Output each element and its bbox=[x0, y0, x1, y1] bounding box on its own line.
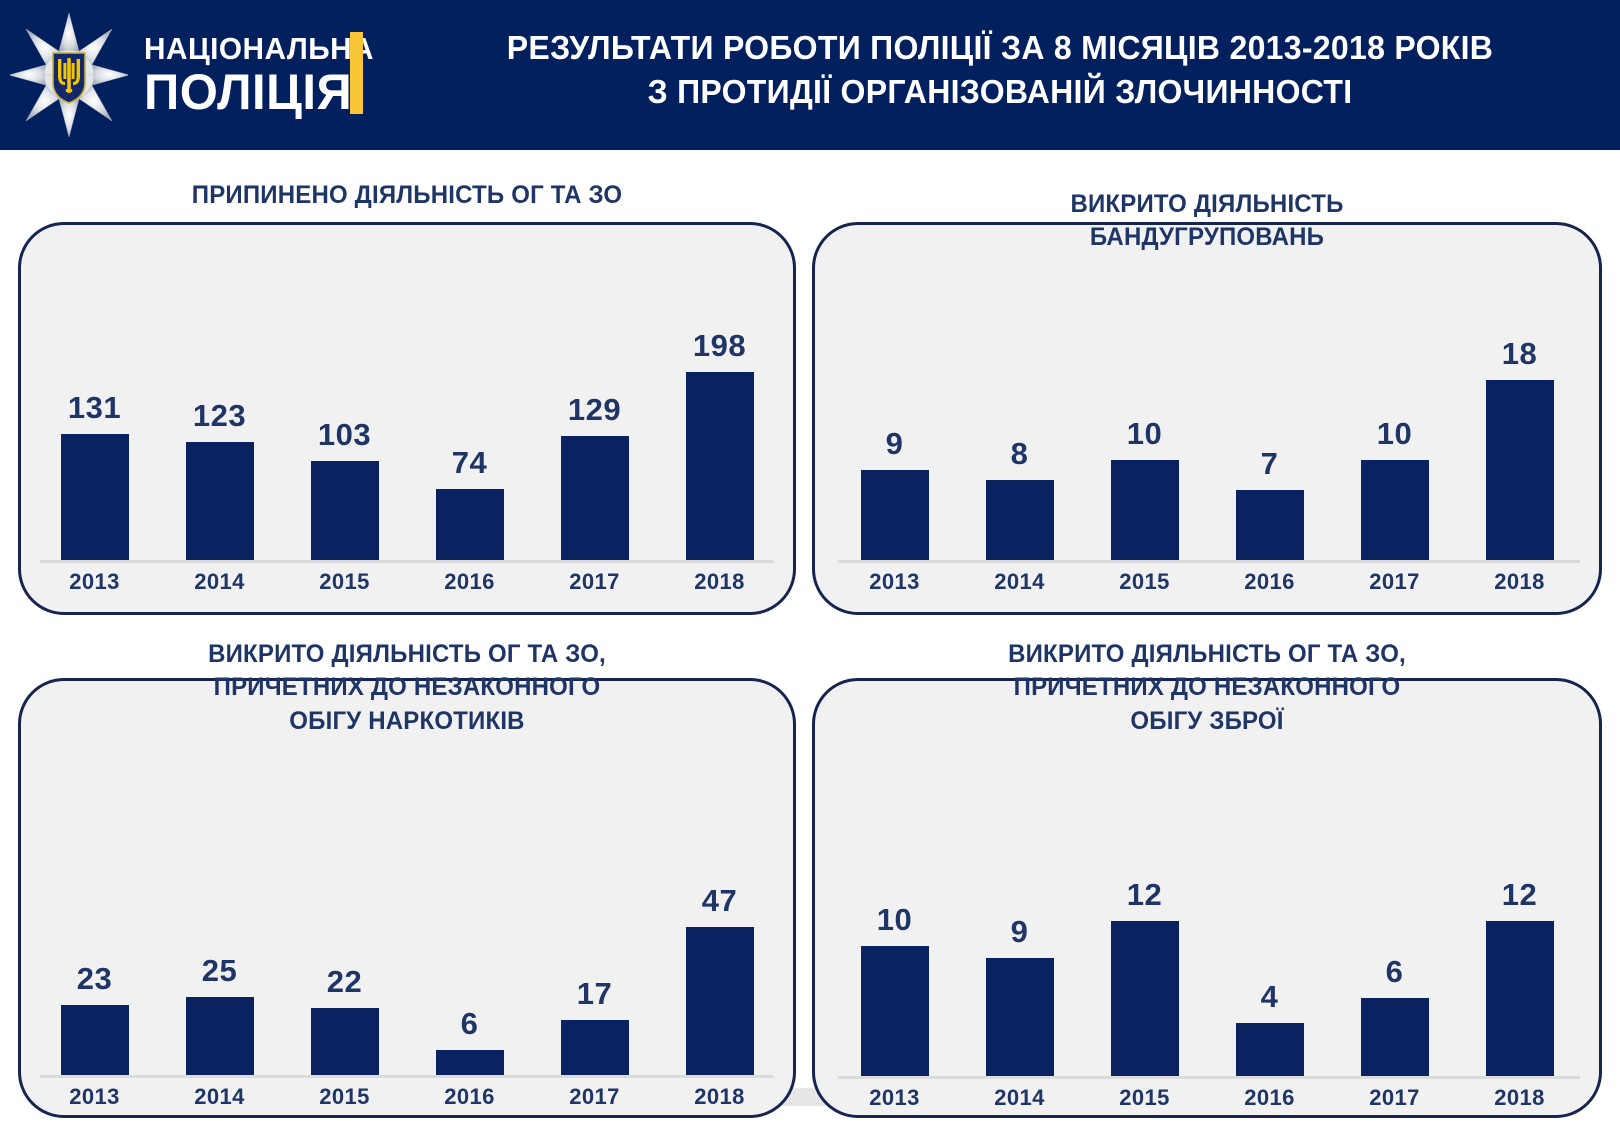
bar-value: 17 bbox=[577, 978, 612, 1009]
chart-title-2-line-2: БАНДУГРУПОВАНЬ bbox=[828, 221, 1586, 254]
chart-title-4: ВИКРИТО ДІЯЛЬНІСТЬ ОГ ТА ЗО, ПРИЧЕТНИХ Д… bbox=[828, 638, 1586, 738]
infographic-page: НАЦІОНАЛЬНА ПОЛІЦІЯ РЕЗУЛЬТАТИ РОБОТИ ПО… bbox=[0, 0, 1620, 1125]
chart-block-stopped-groups: ПРИПИНЕНО ДІЯЛЬНІСТЬ ОГ ТА ЗО 131 123 10… bbox=[18, 165, 796, 615]
bar-value: 4 bbox=[1261, 981, 1279, 1012]
chart-block-drugs: ВИКРИТО ДІЯЛЬНІСТЬ ОГ ТА ЗО, ПРИЧЕТНИХ Д… bbox=[18, 628, 796, 1118]
brand-line-police: ПОЛІЦІЯ bbox=[144, 67, 379, 117]
bar-value: 10 bbox=[877, 904, 912, 935]
bar-column[interactable]: 4 bbox=[1210, 828, 1330, 1076]
chart-title-3: ВИКРИТО ДІЯЛЬНІСТЬ ОГ ТА ЗО, ПРИЧЕТНИХ Д… bbox=[34, 638, 781, 738]
bar-value: 131 bbox=[68, 392, 121, 423]
chart-title-4-line-3: ОБІГУ ЗБРОЇ bbox=[828, 705, 1586, 738]
charts-grid: ПРИПИНЕНО ДІЯЛЬНІСТЬ ОГ ТА ЗО 131 123 10… bbox=[0, 150, 1620, 1125]
bar[interactable] bbox=[1111, 460, 1179, 560]
year-label: 2018 bbox=[660, 569, 780, 595]
bar[interactable] bbox=[436, 489, 504, 560]
year-label: 2014 bbox=[960, 1085, 1080, 1111]
bar-column[interactable]: 129 bbox=[535, 330, 655, 560]
chart-title-3-line-3: ОБІГУ НАРКОТИКІВ bbox=[34, 705, 781, 738]
bar[interactable] bbox=[986, 480, 1054, 560]
chart-baseline-2 bbox=[838, 560, 1580, 563]
bar-column[interactable]: 12 bbox=[1085, 828, 1205, 1076]
chart-block-weapons: ВИКРИТО ДІЯЛЬНІСТЬ ОГ ТА ЗО, ПРИЧЕТНИХ Д… bbox=[812, 628, 1602, 1118]
bar-value: 18 bbox=[1502, 338, 1537, 369]
chart-plot-2: 9 8 10 7 10 bbox=[832, 330, 1582, 560]
year-label: 2018 bbox=[1460, 569, 1580, 595]
bar-value: 123 bbox=[193, 400, 246, 431]
bar[interactable] bbox=[311, 461, 379, 560]
year-label: 2013 bbox=[35, 1084, 155, 1110]
chart-baseline-1 bbox=[40, 560, 774, 563]
bar[interactable] bbox=[1486, 921, 1554, 1076]
bar-column[interactable]: 18 bbox=[1460, 330, 1580, 560]
bar-column[interactable]: 10 bbox=[835, 828, 955, 1076]
police-star-badge-icon bbox=[10, 11, 128, 139]
chart-title-3-line-1: ВИКРИТО ДІЯЛЬНІСТЬ ОГ ТА ЗО, bbox=[34, 638, 781, 671]
chart-block-gangs: ВИКРИТО ДІЯЛЬНІСТЬ БАНДУГРУПОВАНЬ 9 8 10 bbox=[812, 165, 1602, 615]
brand-text: НАЦІОНАЛЬНА ПОЛІЦІЯ bbox=[144, 33, 384, 117]
bar-column[interactable]: 198 bbox=[660, 330, 780, 560]
bar-value: 6 bbox=[461, 1008, 479, 1039]
bar[interactable] bbox=[61, 434, 129, 560]
chart-plot-4: 10 9 12 4 6 bbox=[832, 828, 1582, 1076]
bar[interactable] bbox=[561, 436, 629, 560]
year-label: 2015 bbox=[1085, 569, 1205, 595]
yellow-vertical-divider-icon bbox=[350, 32, 363, 114]
brand-lockup: НАЦІОНАЛЬНА ПОЛІЦІЯ bbox=[10, 6, 370, 144]
year-label: 2016 bbox=[410, 1084, 530, 1110]
bar-column[interactable]: 6 bbox=[410, 843, 530, 1075]
bar-column[interactable]: 10 bbox=[1085, 330, 1205, 560]
page-title-line-1: РЕЗУЛЬТАТИ РОБОТИ ПОЛІЦІЇ ЗА 8 МІСЯЦІВ 2… bbox=[418, 26, 1582, 70]
bar-value: 25 bbox=[202, 955, 237, 986]
year-label: 2016 bbox=[1210, 569, 1330, 595]
bar-column[interactable]: 131 bbox=[35, 330, 155, 560]
chart-year-labels-2: 2013 2014 2015 2016 2017 2018 bbox=[832, 569, 1582, 595]
year-label: 2014 bbox=[960, 569, 1080, 595]
bar-column[interactable]: 17 bbox=[535, 843, 655, 1075]
year-label: 2016 bbox=[410, 569, 530, 595]
bar[interactable] bbox=[686, 927, 754, 1075]
bar-column[interactable]: 9 bbox=[960, 828, 1080, 1076]
bar[interactable] bbox=[186, 442, 254, 560]
bar-column[interactable]: 8 bbox=[960, 330, 1080, 560]
chart-year-labels-1: 2013 2014 2015 2016 2017 2018 bbox=[32, 569, 782, 595]
year-label: 2014 bbox=[160, 1084, 280, 1110]
bar-value: 8 bbox=[1011, 438, 1029, 469]
bar-column[interactable]: 12 bbox=[1460, 828, 1580, 1076]
year-label: 2018 bbox=[660, 1084, 780, 1110]
chart-title-4-line-2: ПРИЧЕТНИХ ДО НЕЗАКОННОГО bbox=[828, 671, 1586, 704]
bar-column[interactable]: 10 bbox=[1335, 330, 1455, 560]
chart-baseline-3 bbox=[40, 1075, 774, 1078]
bar[interactable] bbox=[1111, 921, 1179, 1076]
chart-title-2-line-1: ВИКРИТО ДІЯЛЬНІСТЬ bbox=[828, 188, 1586, 221]
bar-column[interactable]: 123 bbox=[160, 330, 280, 560]
bar[interactable] bbox=[1236, 490, 1304, 560]
page-header: НАЦІОНАЛЬНА ПОЛІЦІЯ РЕЗУЛЬТАТИ РОБОТИ ПО… bbox=[0, 0, 1620, 150]
chart-title-1: ПРИПИНЕНО ДІЯЛЬНІСТЬ ОГ ТА ЗО bbox=[34, 179, 781, 212]
bar-value: 7 bbox=[1261, 448, 1279, 479]
page-title: РЕЗУЛЬТАТИ РОБОТИ ПОЛІЦІЇ ЗА 8 МІСЯЦІВ 2… bbox=[418, 26, 1582, 113]
year-label: 2016 bbox=[1210, 1085, 1330, 1111]
page-title-line-2: З ПРОТИДІЇ ОРГАНІЗОВАНІЙ ЗЛОЧИННОСТІ bbox=[418, 70, 1582, 114]
year-label: 2015 bbox=[285, 569, 405, 595]
year-label: 2017 bbox=[1335, 1085, 1455, 1111]
chart-plot-1: 131 123 103 74 129 bbox=[32, 330, 782, 560]
bar[interactable] bbox=[1486, 380, 1554, 560]
bar-column[interactable]: 47 bbox=[660, 843, 780, 1075]
chart-year-labels-3: 2013 2014 2015 2016 2017 2018 bbox=[32, 1084, 782, 1110]
bar-value: 10 bbox=[1377, 418, 1412, 449]
bar-column[interactable]: 22 bbox=[285, 843, 405, 1075]
bar-value: 12 bbox=[1127, 879, 1162, 910]
bar-column[interactable]: 103 bbox=[285, 330, 405, 560]
year-label: 2014 bbox=[160, 569, 280, 595]
bar-column[interactable]: 6 bbox=[1335, 828, 1455, 1076]
chart-year-labels-4: 2013 2014 2015 2016 2017 2018 bbox=[832, 1085, 1582, 1111]
brand-line-national: НАЦІОНАЛЬНА bbox=[144, 33, 374, 64]
bar-value: 9 bbox=[1011, 916, 1029, 947]
bar-column[interactable]: 7 bbox=[1210, 330, 1330, 560]
bar-value: 12 bbox=[1502, 879, 1537, 910]
chart-plot-3: 23 25 22 6 17 bbox=[32, 843, 782, 1075]
year-label: 2015 bbox=[1085, 1085, 1205, 1111]
bar[interactable] bbox=[186, 997, 254, 1075]
bar[interactable] bbox=[61, 1005, 129, 1075]
year-label: 2013 bbox=[35, 569, 155, 595]
bar[interactable] bbox=[1361, 998, 1429, 1076]
bar-value: 6 bbox=[1386, 956, 1404, 987]
year-label: 2017 bbox=[535, 569, 655, 595]
bar-value: 198 bbox=[693, 330, 746, 361]
bar-column[interactable]: 23 bbox=[35, 843, 155, 1075]
bar[interactable] bbox=[986, 958, 1054, 1076]
bar[interactable] bbox=[1361, 460, 1429, 560]
year-label: 2013 bbox=[835, 1085, 955, 1111]
bar-value: 23 bbox=[77, 963, 112, 994]
year-label: 2013 bbox=[835, 569, 955, 595]
chart-baseline-4 bbox=[838, 1076, 1580, 1079]
bar[interactable] bbox=[561, 1020, 629, 1075]
bar[interactable] bbox=[861, 470, 929, 560]
bar-value: 22 bbox=[327, 966, 362, 997]
bar-value: 10 bbox=[1127, 418, 1162, 449]
bar[interactable] bbox=[311, 1008, 379, 1075]
bar-value: 74 bbox=[452, 447, 487, 478]
chart-title-1-line-1: ПРИПИНЕНО ДІЯЛЬНІСТЬ ОГ ТА ЗО bbox=[34, 179, 781, 212]
bar-column[interactable]: 9 bbox=[835, 330, 955, 560]
bar[interactable] bbox=[1236, 1023, 1304, 1076]
bar-column[interactable]: 25 bbox=[160, 843, 280, 1075]
bar-value: 103 bbox=[318, 419, 371, 450]
bar[interactable] bbox=[861, 946, 929, 1076]
bar-value: 47 bbox=[702, 885, 737, 916]
bar-value: 9 bbox=[886, 428, 904, 459]
bar-value: 129 bbox=[568, 394, 621, 425]
year-label: 2017 bbox=[1335, 569, 1455, 595]
bar-column[interactable]: 74 bbox=[410, 330, 530, 560]
year-label: 2015 bbox=[285, 1084, 405, 1110]
bar[interactable] bbox=[686, 372, 754, 560]
chart-title-3-line-2: ПРИЧЕТНИХ ДО НЕЗАКОННОГО bbox=[34, 671, 781, 704]
bar[interactable] bbox=[436, 1050, 504, 1075]
year-label: 2017 bbox=[535, 1084, 655, 1110]
year-label: 2018 bbox=[1460, 1085, 1580, 1111]
chart-title-2: ВИКРИТО ДІЯЛЬНІСТЬ БАНДУГРУПОВАНЬ bbox=[828, 188, 1586, 255]
chart-title-4-line-1: ВИКРИТО ДІЯЛЬНІСТЬ ОГ ТА ЗО, bbox=[828, 638, 1586, 671]
